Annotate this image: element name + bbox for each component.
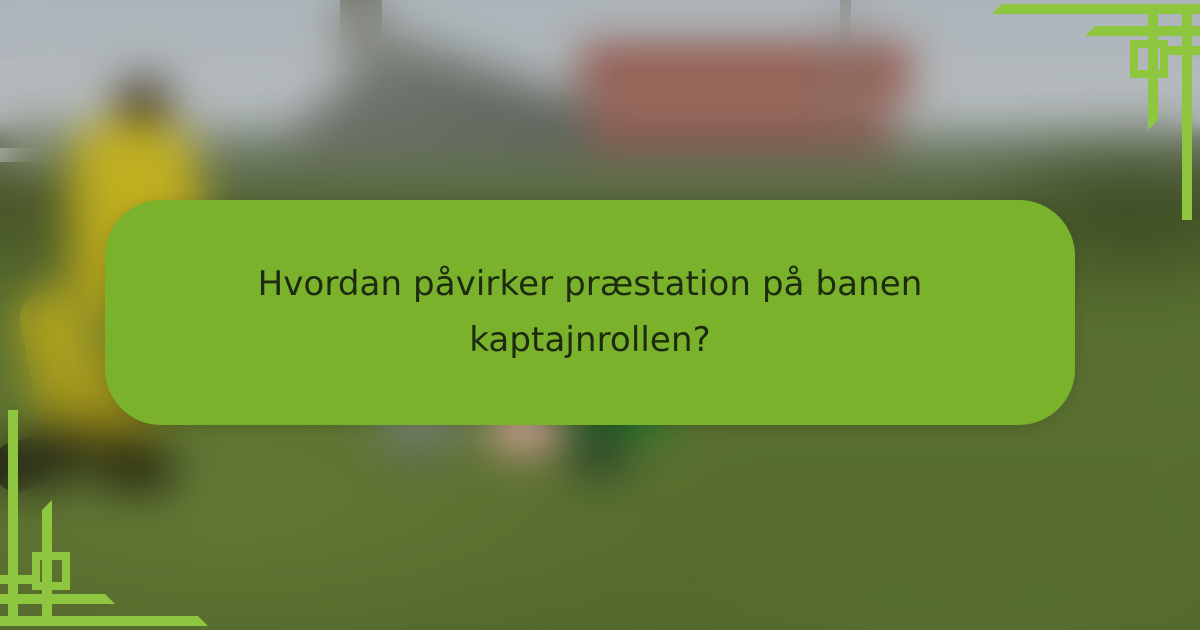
screenshot-stage: Hvordan påvirker præstation på banen kap…: [0, 0, 1200, 630]
question-card: Hvordan påvirker præstation på banen kap…: [105, 200, 1075, 425]
question-text: Hvordan påvirker præstation på banen kap…: [190, 257, 990, 367]
